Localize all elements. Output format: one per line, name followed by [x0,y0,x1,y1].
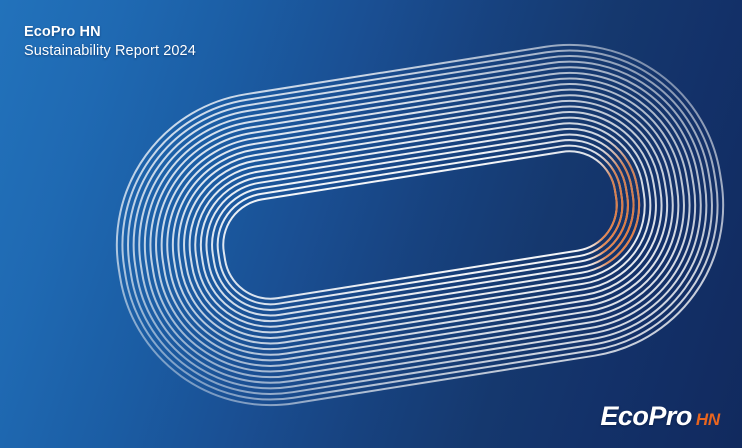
report-cover: EcoPro HN Sustainability Report 2024 Eco… [0,0,742,448]
ecopro-logo: EcoPro HN [600,403,720,430]
logo-wordmark: EcoPro [600,403,692,430]
page-title: Sustainability Report 2024 [24,43,196,61]
cover-header: EcoPro HN Sustainability Report 2024 [24,24,196,60]
logo-suffix: HN [696,411,720,428]
track-artwork [0,0,742,448]
brand-name: EcoPro HN [24,24,196,42]
